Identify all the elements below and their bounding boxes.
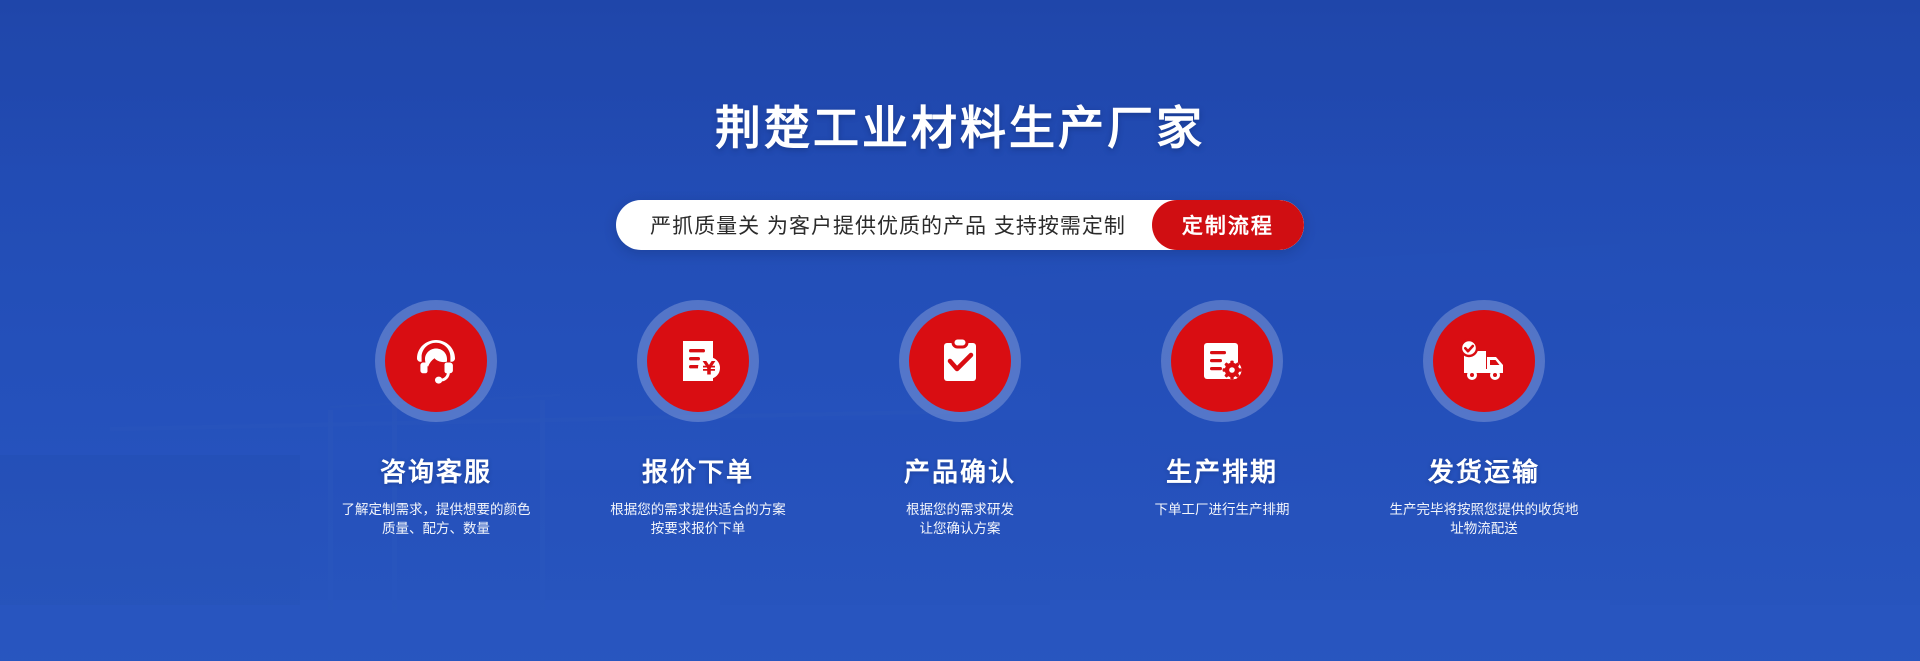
step-icon-disc: ¥ [647,310,749,412]
step-icon-circle[interactable] [1161,300,1283,422]
step-description: 生产完毕将按照您提供的收货地 址物流配送 [1379,500,1589,538]
step-icon-circle[interactable]: ¥ [637,300,759,422]
invoice-yuan-icon: ¥ [672,335,724,387]
step-icon-circle[interactable] [899,300,1021,422]
delivery-truck-check-icon [1456,337,1512,385]
step-title: 生产排期 [1166,452,1278,489]
document-gear-icon [1196,335,1248,387]
tagline-text: 严抓质量关 为客户提供优质的产品 支持按需定制 [616,200,1152,250]
custom-process-button[interactable]: 定制流程 [1152,200,1304,250]
step-icon-disc [385,310,487,412]
hero-banner: 荆楚工业材料生产厂家 严抓质量关 为客户提供优质的产品 支持按需定制 定制流程 [0,0,1920,661]
clipboard-check-icon [935,335,985,387]
step-icon-circle[interactable] [375,300,497,422]
step-description: 了解定制需求，提供想要的颜色 质量、配方、数量 [331,500,541,538]
step-description: 根据您的需求研发 让您确认方案 [855,500,1065,538]
step-icon-disc [1433,310,1535,412]
process-steps: 咨询客服 了解定制需求，提供想要的颜色 质量、配方、数量 [0,300,1920,538]
step-icon-disc [1171,310,1273,412]
step-title: 咨询客服 [380,452,492,489]
headset-support-icon [408,333,464,389]
step-title: 产品确认 [904,452,1016,489]
step-icon-disc [909,310,1011,412]
step-item-quote[interactable]: ¥ 报价下单 根据您的需求提供适合的方案 按要求报价下单 [592,300,804,538]
step-item-consult[interactable]: 咨询客服 了解定制需求，提供想要的颜色 质量、配方、数量 [330,300,542,538]
page-title: 荆楚工业材料生产厂家 [0,92,1920,158]
step-description: 下单工厂进行生产排期 [1117,500,1327,519]
step-title: 报价下单 [642,452,754,489]
step-title: 发货运输 [1428,452,1540,489]
tagline-pill: 严抓质量关 为客户提供优质的产品 支持按需定制 定制流程 [616,200,1304,250]
step-description: 根据您的需求提供适合的方案 按要求报价下单 [593,500,803,538]
svg-text:¥: ¥ [702,358,715,380]
step-icon-circle[interactable] [1423,300,1545,422]
step-item-confirm[interactable]: 产品确认 根据您的需求研发 让您确认方案 [854,300,1066,538]
step-item-delivery[interactable]: 发货运输 生产完毕将按照您提供的收货地 址物流配送 [1378,300,1590,538]
step-item-schedule[interactable]: 生产排期 下单工厂进行生产排期 [1116,300,1328,538]
